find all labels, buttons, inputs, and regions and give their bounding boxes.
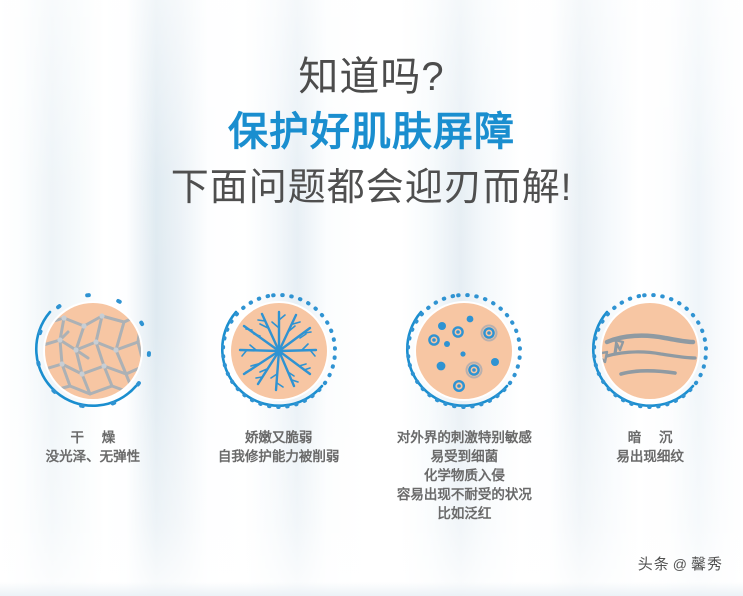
symptom-card-row: 干 燥 没光泽、无弹性	[0, 288, 743, 523]
caption-line: 娇嫩又脆弱	[218, 428, 340, 447]
caption-dullness: 暗 沉 易出现细纹	[616, 428, 684, 466]
poster-canvas: 知道吗? 保护好肌肤屏障 下面问题都会迎刃而解!	[0, 0, 743, 596]
capillary-vessels-icon	[216, 288, 342, 414]
caption-line: 易受到细菌	[397, 447, 532, 466]
symptom-card-sensitivity: 对外界的刺激特别敏感 易受到细菌 化学物质入侵 容易出现不耐受的状况 比如泛红	[372, 288, 558, 523]
caption-fragility: 娇嫩又脆弱 自我修护能力被削弱	[218, 428, 340, 466]
dry-cracked-skin-icon	[30, 288, 156, 414]
caption-line: 容易出现不耐受的状况	[397, 485, 532, 504]
bacteria-dots-icon	[401, 288, 527, 414]
headline-line-2: 保护好肌肤屏障	[0, 104, 743, 160]
caption-sensitivity: 对外界的刺激特别敏感 易受到细菌 化学物质入侵 容易出现不耐受的状况 比如泛红	[397, 428, 532, 523]
headline-block: 知道吗? 保护好肌肤屏障 下面问题都会迎刃而解!	[0, 52, 743, 214]
caption-dryness: 干 燥 没光泽、无弹性	[46, 428, 141, 466]
headline-line-1: 知道吗?	[0, 52, 743, 102]
caption-line: 化学物质入侵	[397, 466, 532, 485]
caption-line: 比如泛红	[397, 504, 532, 523]
caption-line: 对外界的刺激特别敏感	[397, 428, 532, 447]
symptom-card-fragility: 娇嫩又脆弱 自我修护能力被削弱	[186, 288, 372, 523]
watermark: 头条 @ 馨秀	[638, 553, 723, 574]
symptom-card-dryness: 干 燥 没光泽、无弹性	[0, 288, 186, 523]
caption-line: 没光泽、无弹性	[46, 447, 141, 466]
symptom-card-dullness: 暗 沉 易出现细纹	[557, 288, 743, 523]
caption-line: 干 燥	[46, 428, 141, 447]
caption-line: 自我修护能力被削弱	[218, 447, 340, 466]
caption-line: 暗 沉	[616, 428, 684, 447]
bottom-fade-divider	[0, 582, 743, 596]
headline-line-3: 下面问题都会迎刃而解!	[0, 162, 743, 214]
watermark-username: 馨秀	[691, 553, 723, 574]
watermark-platform: 头条	[638, 553, 670, 574]
caption-line: 易出现细纹	[616, 447, 684, 466]
fine-wrinkles-icon	[587, 288, 713, 414]
watermark-at-symbol: @	[673, 556, 688, 572]
